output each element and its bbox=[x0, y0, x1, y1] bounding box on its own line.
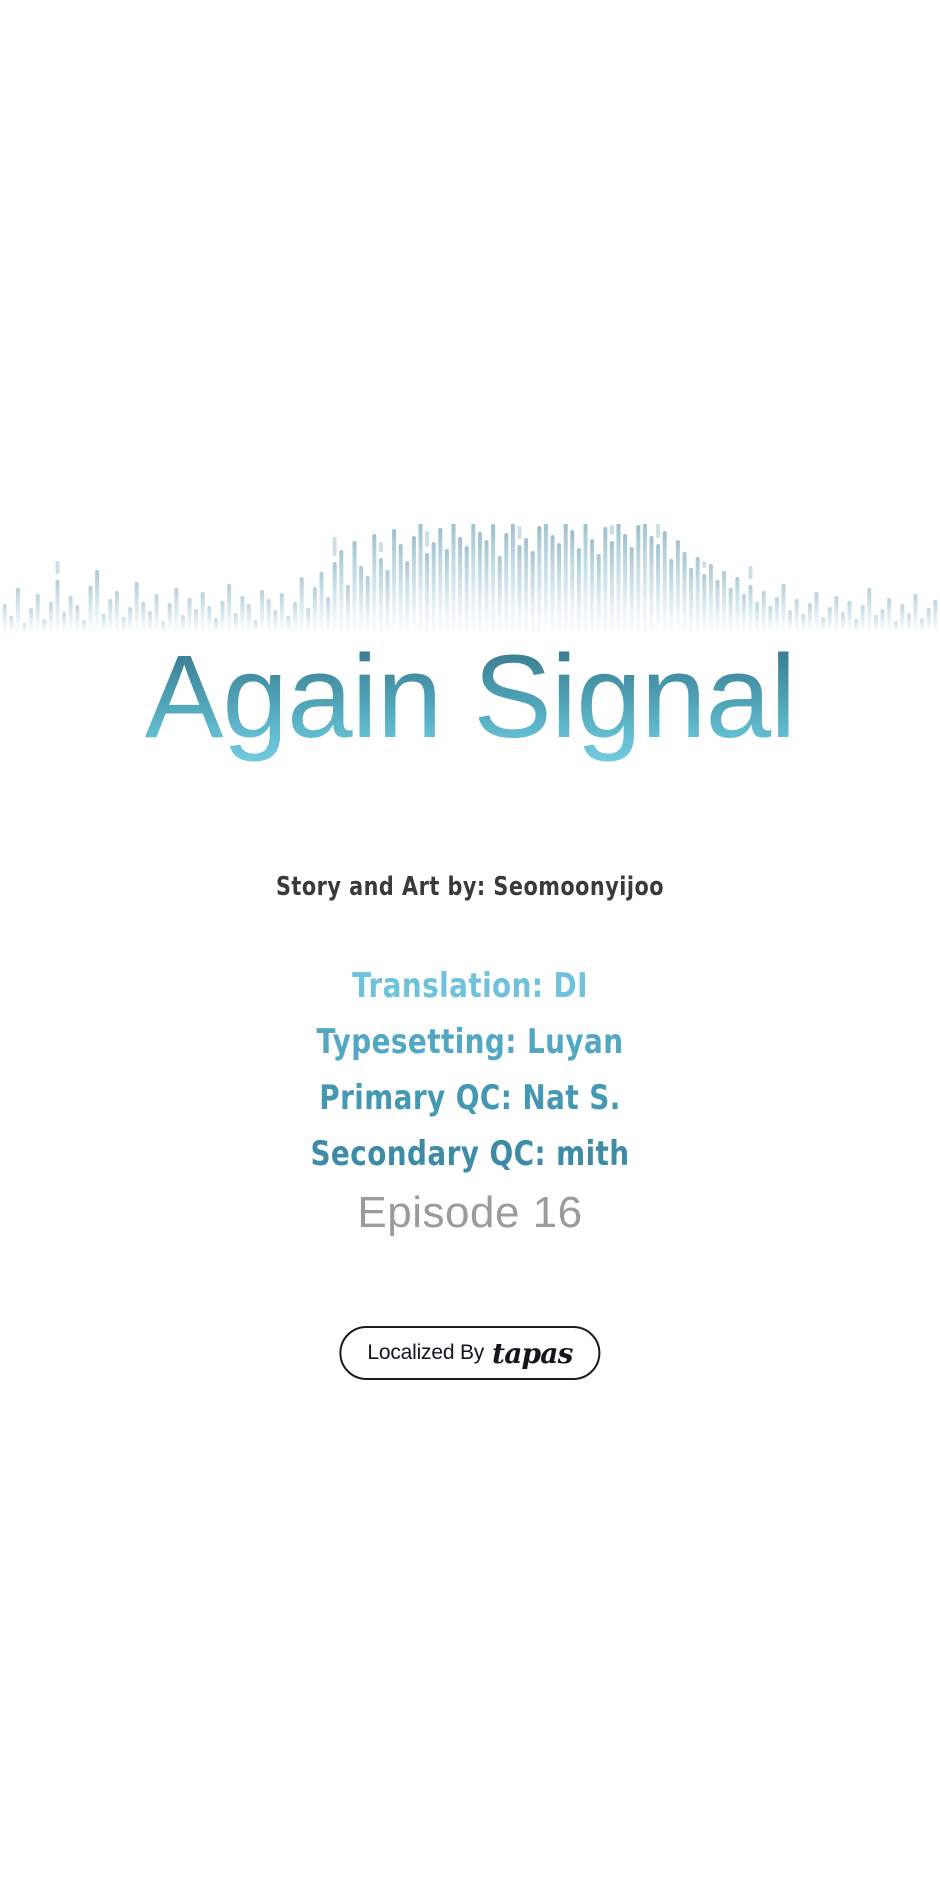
waveform-bar bbox=[590, 539, 594, 632]
waveform-bar bbox=[366, 576, 370, 632]
waveform-bar bbox=[669, 559, 673, 632]
waveform-bar bbox=[636, 525, 640, 632]
waveform-bar bbox=[504, 533, 508, 632]
waveform-bar bbox=[696, 557, 700, 632]
waveform-bar bbox=[544, 524, 548, 632]
waveform-bar bbox=[478, 532, 482, 632]
waveform-bar bbox=[597, 554, 601, 632]
episode-number: Episode 16 bbox=[0, 1188, 940, 1238]
credit-translation: Translation: DI bbox=[85, 958, 856, 1014]
waveform-bar bbox=[551, 535, 555, 632]
waveform-bar bbox=[280, 593, 284, 632]
waveform-bar bbox=[359, 566, 363, 632]
waveform-bar bbox=[815, 592, 819, 632]
waveform-bar bbox=[372, 534, 376, 632]
waveform-bar bbox=[676, 540, 680, 632]
waveform-bar bbox=[716, 580, 720, 632]
waveform-bar-spark bbox=[56, 561, 60, 574]
tapas-wordmark: tapas bbox=[492, 1337, 573, 1370]
waveform-bar bbox=[412, 536, 416, 632]
waveform-bar bbox=[452, 524, 456, 632]
waveform-bar bbox=[353, 541, 357, 632]
waveform-bar-spark bbox=[333, 537, 337, 556]
waveform-bar bbox=[174, 588, 178, 632]
waveform-bar bbox=[425, 553, 429, 632]
waveform-bar bbox=[445, 549, 449, 632]
waveform-bar-spark bbox=[518, 526, 522, 539]
waveform-bar bbox=[603, 527, 607, 632]
waveform-bar bbox=[584, 524, 588, 632]
credit-primary-qc: Primary QC: Nat S. bbox=[85, 1070, 856, 1126]
credit-secondary-qc: Secondary QC: mith bbox=[85, 1126, 856, 1182]
waveform-bar bbox=[683, 552, 687, 632]
waveform-bar bbox=[260, 590, 264, 632]
waveform-bar bbox=[491, 524, 495, 632]
waveform-bar bbox=[326, 597, 330, 632]
title-container: Again Signal bbox=[0, 628, 940, 767]
waveform-bar bbox=[320, 572, 324, 632]
waveform-bar bbox=[537, 526, 541, 632]
waveform-bar bbox=[531, 551, 535, 632]
waveform-bar bbox=[379, 558, 383, 632]
waveform-bar bbox=[399, 544, 403, 632]
waveform-bar bbox=[155, 594, 159, 632]
waveform-bar bbox=[386, 570, 390, 632]
waveform-bar bbox=[300, 577, 304, 632]
waveform-bar bbox=[498, 556, 502, 632]
waveform-bar bbox=[36, 594, 40, 632]
waveform-bar bbox=[722, 571, 726, 632]
waveform-bar bbox=[135, 582, 139, 632]
waveform-bar bbox=[89, 586, 93, 632]
waveform-bar bbox=[617, 524, 621, 632]
waveform-bar bbox=[56, 580, 60, 632]
waveform-bar bbox=[729, 588, 733, 632]
waveform-bar bbox=[887, 598, 891, 632]
waveform-bar bbox=[914, 594, 918, 632]
waveform-bar bbox=[201, 592, 205, 632]
waveform-bar bbox=[438, 528, 442, 632]
waveform-bar bbox=[630, 547, 634, 632]
waveform-bar bbox=[458, 537, 462, 632]
localized-by-tapas-badge[interactable]: Localized By tapas bbox=[339, 1326, 600, 1380]
waveform-bar bbox=[689, 568, 693, 632]
waveform-bar bbox=[511, 524, 515, 632]
scanlation-credits: Translation: DI Typesetting: Luyan Prima… bbox=[0, 958, 940, 1182]
waveform-bar bbox=[709, 564, 713, 632]
waveform-bar bbox=[735, 577, 739, 632]
waveform-bar bbox=[115, 591, 119, 632]
waveform-bar bbox=[663, 531, 667, 632]
waveform-bar bbox=[95, 570, 99, 632]
waveform-bar bbox=[702, 574, 706, 632]
waveform-bar bbox=[570, 530, 574, 632]
waveform-bar bbox=[471, 524, 475, 632]
waveform-bar bbox=[577, 548, 581, 632]
waveform-bar bbox=[867, 588, 871, 632]
waveform-bar-spark bbox=[610, 525, 614, 535]
waveform-bar bbox=[749, 585, 753, 632]
localized-by-label: Localized By bbox=[367, 1341, 484, 1365]
waveform-bar bbox=[227, 584, 231, 632]
waveform-bar bbox=[518, 545, 522, 632]
waveform-bar bbox=[313, 587, 317, 632]
waveform-bar bbox=[188, 598, 192, 632]
waveform-bar-spark bbox=[656, 524, 660, 538]
waveform-bar bbox=[564, 524, 568, 632]
waveform-bar bbox=[69, 596, 73, 632]
waveform-bar bbox=[656, 544, 660, 632]
waveform-bar bbox=[742, 594, 746, 632]
waveform-bar bbox=[834, 596, 838, 632]
series-title: Again Signal bbox=[145, 628, 796, 767]
waveform-svg bbox=[0, 524, 940, 644]
waveform-bar bbox=[419, 524, 423, 632]
waveform-bar bbox=[643, 524, 647, 632]
waveform-bar bbox=[524, 538, 528, 632]
waveform-bar bbox=[782, 584, 786, 632]
waveform-bar-spark bbox=[749, 566, 753, 579]
waveform-bar bbox=[333, 562, 337, 632]
waveform-bar bbox=[650, 536, 654, 632]
waveform-bar bbox=[610, 541, 614, 632]
waveform-bar bbox=[775, 597, 779, 632]
waveform-bar bbox=[240, 596, 244, 632]
story-and-art-credit: Story and Art by: Seomoonyijoo bbox=[94, 872, 846, 902]
waveform-bar-spark bbox=[702, 561, 706, 568]
waveform-bar bbox=[405, 561, 409, 632]
credit-typesetting: Typesetting: Luyan bbox=[85, 1014, 856, 1070]
waveform-bar bbox=[432, 542, 436, 632]
audio-waveform-graphic bbox=[0, 524, 940, 644]
chapter-title-page: Again Signal Story and Art by: Seomoonyi… bbox=[0, 0, 940, 1904]
waveform-bar bbox=[392, 529, 396, 632]
waveform-bar bbox=[346, 585, 350, 632]
waveform-bar bbox=[485, 540, 489, 632]
waveform-bar bbox=[16, 588, 20, 632]
waveform-bar bbox=[557, 543, 561, 632]
waveform-bar bbox=[762, 591, 766, 632]
waveform-bar-spark bbox=[425, 531, 429, 547]
waveform-bar bbox=[339, 550, 343, 632]
waveform-bar-spark bbox=[379, 542, 383, 552]
waveform-bar bbox=[623, 534, 627, 632]
waveform-bar bbox=[465, 546, 469, 632]
